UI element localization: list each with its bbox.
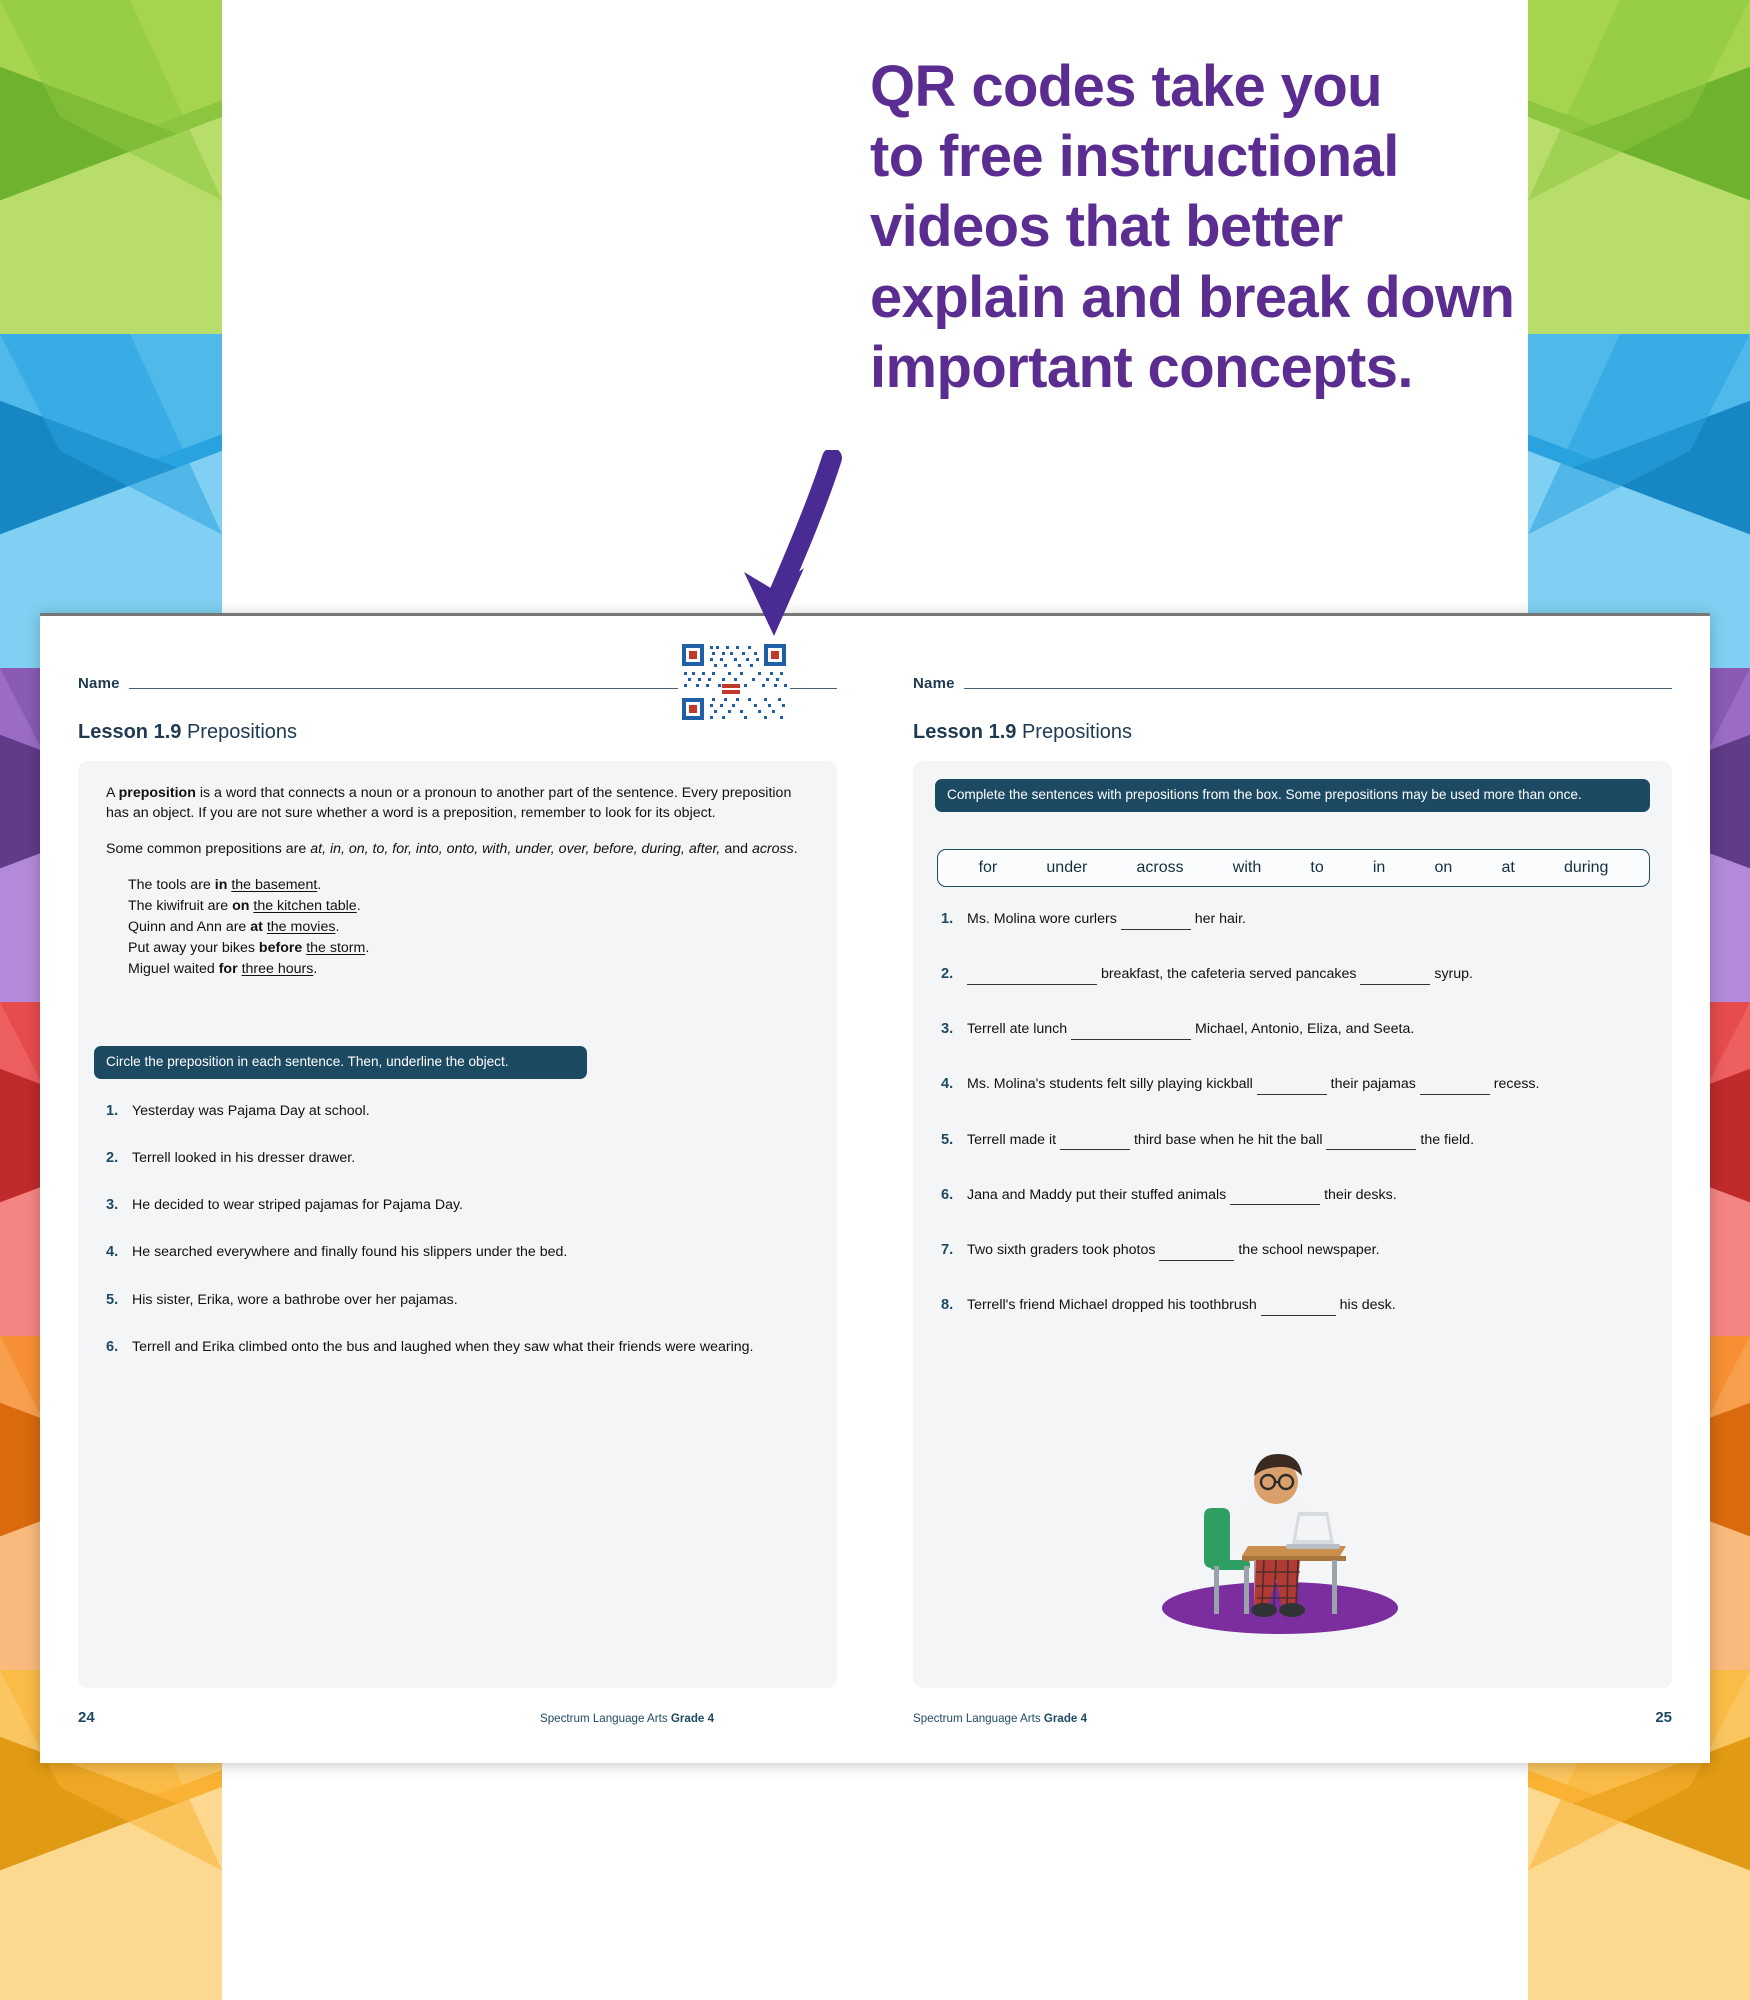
name-field-row[interactable]: Name — [913, 675, 1672, 692]
question-number: 3. — [941, 1019, 967, 1040]
question-text: Ms. Molina wore curlers her hair. — [967, 909, 1648, 930]
question-number: 1. — [106, 1101, 132, 1122]
question-text: Two sixth graders took photos the school… — [967, 1240, 1648, 1261]
teaching-paragraph-2: Some common prepositions are at, in, on,… — [106, 839, 811, 859]
word-bank-item[interactable]: across — [1136, 859, 1183, 877]
page-title: QR codes take you to free instructional … — [870, 52, 1700, 403]
question-item[interactable]: 6. Terrell and Erika climbed onto the bu… — [106, 1337, 813, 1358]
question-text: Yesterday was Pajama Day at school. — [132, 1101, 813, 1122]
question-list-left: 1. Yesterday was Pajama Day at school. 2… — [106, 1101, 813, 1384]
example-sentence: The tools are in the basement. — [128, 875, 811, 896]
word-bank: for under across with to in on at during — [937, 849, 1650, 887]
page-number-right: 25 — [1655, 1709, 1672, 1726]
word-bank-item[interactable]: in — [1373, 859, 1385, 877]
question-item[interactable]: 5.Terrell made it third base when he hit… — [941, 1130, 1648, 1151]
question-number: 6. — [106, 1337, 132, 1358]
question-text: breakfast, the cafeteria served pancakes… — [967, 964, 1648, 985]
question-item[interactable]: 1. Yesterday was Pajama Day at school. — [106, 1101, 813, 1122]
word-bank-item[interactable]: at — [1501, 859, 1514, 877]
footer-pre: Spectrum Language Arts — [913, 1712, 1044, 1725]
instruction-banner-left: Circle the preposition in each sentence.… — [94, 1046, 587, 1079]
question-text: Terrell ate lunch Michael, Antonio, Eliz… — [967, 1019, 1648, 1040]
question-text: He searched everywhere and finally found… — [132, 1242, 813, 1263]
answer-blank[interactable] — [1159, 1248, 1234, 1261]
example-sentence: The kiwifruit are on the kitchen table. — [128, 896, 811, 917]
question-number: 2. — [106, 1148, 132, 1169]
question-text: Terrell made it third base when he hit t… — [967, 1130, 1648, 1151]
name-label: Name — [78, 675, 120, 692]
question-text: Terrell looked in his dresser drawer. — [132, 1148, 813, 1169]
lesson-heading: Lesson 1.9 Prepositions — [913, 721, 1132, 744]
word-bank-item[interactable]: during — [1564, 859, 1608, 877]
teach-p2-italic: at, in, on, to, for, into, onto, with, u… — [310, 841, 720, 857]
answer-blank[interactable] — [967, 972, 1097, 985]
question-item[interactable]: 4. He searched everywhere and finally fo… — [106, 1242, 813, 1263]
example-sentence: Quinn and Ann are at the movies. — [128, 917, 811, 938]
instruction-banner-right: Complete the sentences with prepositions… — [935, 779, 1650, 812]
question-number: 4. — [106, 1242, 132, 1263]
question-number: 5. — [106, 1290, 132, 1311]
question-item[interactable]: 4.Ms. Molina's students felt silly playi… — [941, 1074, 1648, 1095]
name-label: Name — [913, 675, 955, 692]
name-input-line[interactable] — [964, 677, 1672, 689]
headline-line-4: explain and break down — [870, 263, 1700, 333]
footer-grade: Grade 4 — [1044, 1712, 1087, 1725]
answer-blank[interactable] — [1261, 1303, 1336, 1316]
lesson-number: Lesson 1.9 — [78, 721, 181, 743]
teaching-box: A preposition is a word that connects a … — [106, 783, 811, 980]
lesson-title: Prepositions — [187, 721, 297, 743]
question-number: 4. — [941, 1074, 967, 1095]
student-at-desk-with-laptop-illustration — [1130, 1390, 1430, 1640]
book-spread: Name Lesson 1.9 Prepositions A prepositi… — [40, 613, 1710, 1763]
question-number: 6. — [941, 1185, 967, 1206]
question-text: His sister, Erika, wore a bathrobe over … — [132, 1290, 813, 1311]
question-number: 7. — [941, 1240, 967, 1261]
word-bank-item[interactable]: with — [1233, 859, 1261, 877]
teach-p1-post: is a word that connects a noun or a pron… — [106, 785, 791, 821]
headline-line-1: QR codes take you — [870, 52, 1700, 122]
question-item[interactable]: 3.Terrell ate lunch Michael, Antonio, El… — [941, 1019, 1648, 1040]
answer-blank[interactable] — [1420, 1082, 1490, 1095]
teach-p2-italic2: across — [752, 841, 794, 857]
question-item[interactable]: 5. His sister, Erika, wore a bathrobe ov… — [106, 1290, 813, 1311]
word-bank-item[interactable]: on — [1434, 859, 1452, 877]
question-text: Terrell's friend Michael dropped his too… — [967, 1295, 1648, 1316]
headline-line-3: videos that better — [870, 192, 1700, 262]
lesson-number: Lesson 1.9 — [913, 721, 1016, 743]
answer-blank[interactable] — [1071, 1027, 1191, 1040]
answer-blank[interactable] — [1326, 1137, 1416, 1150]
footer-grade: Grade 4 — [671, 1712, 714, 1725]
teach-p2-end: . — [794, 841, 798, 857]
lesson-title: Prepositions — [1022, 721, 1132, 743]
teach-p1-pre: A — [106, 785, 119, 801]
curved-down-arrow-icon — [700, 450, 850, 655]
word-bank-item[interactable]: under — [1046, 859, 1087, 877]
question-text: Ms. Molina's students felt silly playing… — [967, 1074, 1648, 1095]
page-number-left: 24 — [78, 1709, 95, 1726]
word-bank-item[interactable]: for — [979, 859, 998, 877]
question-list-right: 1.Ms. Molina wore curlers her hair.2. br… — [941, 909, 1648, 1350]
example-sentence: Miguel waited for three hours. — [128, 959, 811, 980]
question-item[interactable]: 6.Jana and Maddy put their stuffed anima… — [941, 1185, 1648, 1206]
teach-p2-pre: Some common prepositions are — [106, 841, 310, 857]
question-item[interactable]: 8.Terrell's friend Michael dropped his t… — [941, 1295, 1648, 1316]
question-item[interactable]: 2. breakfast, the cafeteria served panca… — [941, 964, 1648, 985]
question-item[interactable]: 1.Ms. Molina wore curlers her hair. — [941, 909, 1648, 930]
question-number: 5. — [941, 1130, 967, 1151]
answer-blank[interactable] — [1230, 1192, 1320, 1205]
question-text: Jana and Maddy put their stuffed animals… — [967, 1185, 1648, 1206]
question-number: 2. — [941, 964, 967, 985]
lesson-heading: Lesson 1.9 Prepositions — [78, 721, 297, 744]
footer-pre: Spectrum Language Arts — [540, 1712, 671, 1725]
qr-code-icon[interactable] — [678, 640, 790, 724]
word-bank-item[interactable]: to — [1310, 859, 1323, 877]
question-number: 8. — [941, 1295, 967, 1316]
example-sentence: Put away your bikes before the storm. — [128, 938, 811, 959]
question-text: He decided to wear striped pajamas for P… — [132, 1195, 813, 1216]
example-sentences: The tools are in the basement. The kiwif… — [128, 875, 811, 979]
question-text: Terrell and Erika climbed onto the bus a… — [132, 1337, 792, 1358]
question-item[interactable]: 7.Two sixth graders took photos the scho… — [941, 1240, 1648, 1261]
footer-right: Spectrum Language Arts Grade 4 — [913, 1712, 1087, 1725]
worksheet-panel-left: A preposition is a word that connects a … — [78, 761, 837, 1688]
headline-line-2: to free instructional — [870, 122, 1700, 192]
question-item[interactable]: 3. He decided to wear striped pajamas fo… — [106, 1195, 813, 1216]
answer-blank[interactable] — [1121, 917, 1191, 930]
question-item[interactable]: 2. Terrell looked in his dresser drawer. — [106, 1148, 813, 1169]
footer-left: Spectrum Language Arts Grade 4 — [540, 1712, 714, 1725]
question-number: 3. — [106, 1195, 132, 1216]
answer-blank[interactable] — [1257, 1082, 1327, 1095]
band-segment — [0, 0, 222, 334]
teach-p1-bold: preposition — [119, 785, 196, 801]
answer-blank[interactable] — [1360, 972, 1430, 985]
question-number: 1. — [941, 909, 967, 930]
answer-blank[interactable] — [1060, 1137, 1130, 1150]
worksheet-page-left: Name Lesson 1.9 Prepositions A prepositi… — [40, 613, 875, 1763]
headline-line-5: important concepts. — [870, 333, 1700, 403]
teaching-paragraph-1: A preposition is a word that connects a … — [106, 783, 811, 823]
teach-p2-post: and — [720, 841, 752, 857]
